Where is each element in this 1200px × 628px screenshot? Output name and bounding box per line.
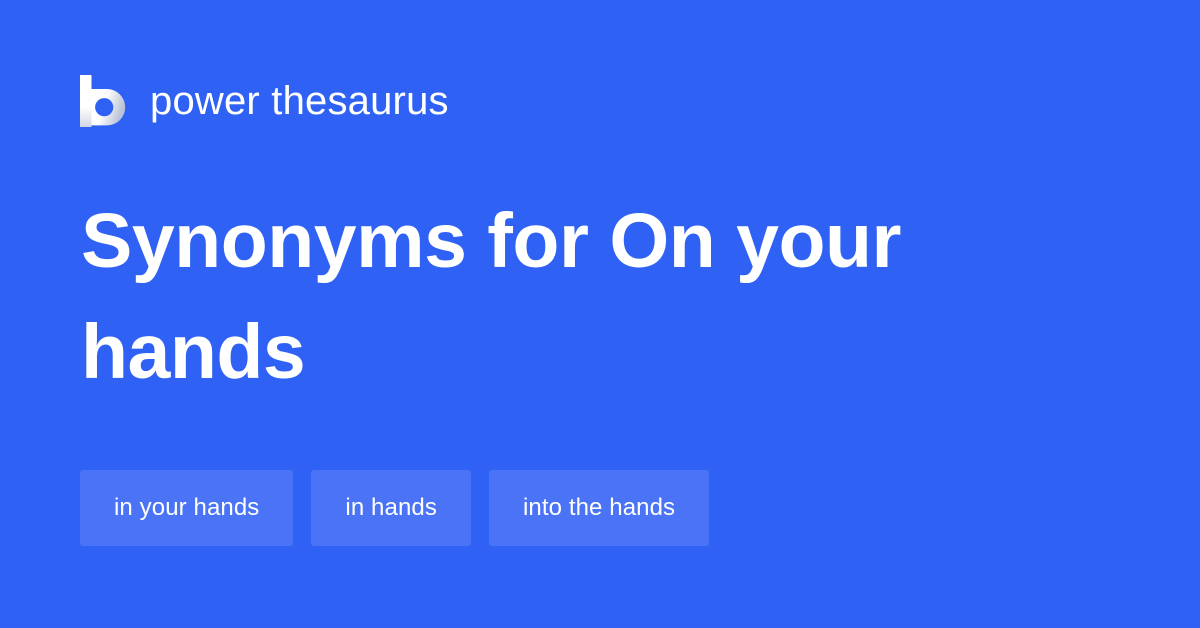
page-title: Synonyms for On your hands bbox=[81, 186, 981, 408]
power-thesaurus-b-logo-icon bbox=[80, 75, 126, 127]
synonym-chip-list: in your hands in hands into the hands bbox=[80, 470, 709, 546]
share-card: power thesaurus Synonyms for On your han… bbox=[0, 0, 1200, 628]
synonym-chip[interactable]: in hands bbox=[311, 470, 471, 546]
synonym-chip[interactable]: in your hands bbox=[80, 470, 293, 546]
brand-header[interactable]: power thesaurus bbox=[80, 70, 449, 132]
brand-name: power thesaurus bbox=[150, 81, 449, 121]
synonym-chip[interactable]: into the hands bbox=[489, 470, 709, 546]
